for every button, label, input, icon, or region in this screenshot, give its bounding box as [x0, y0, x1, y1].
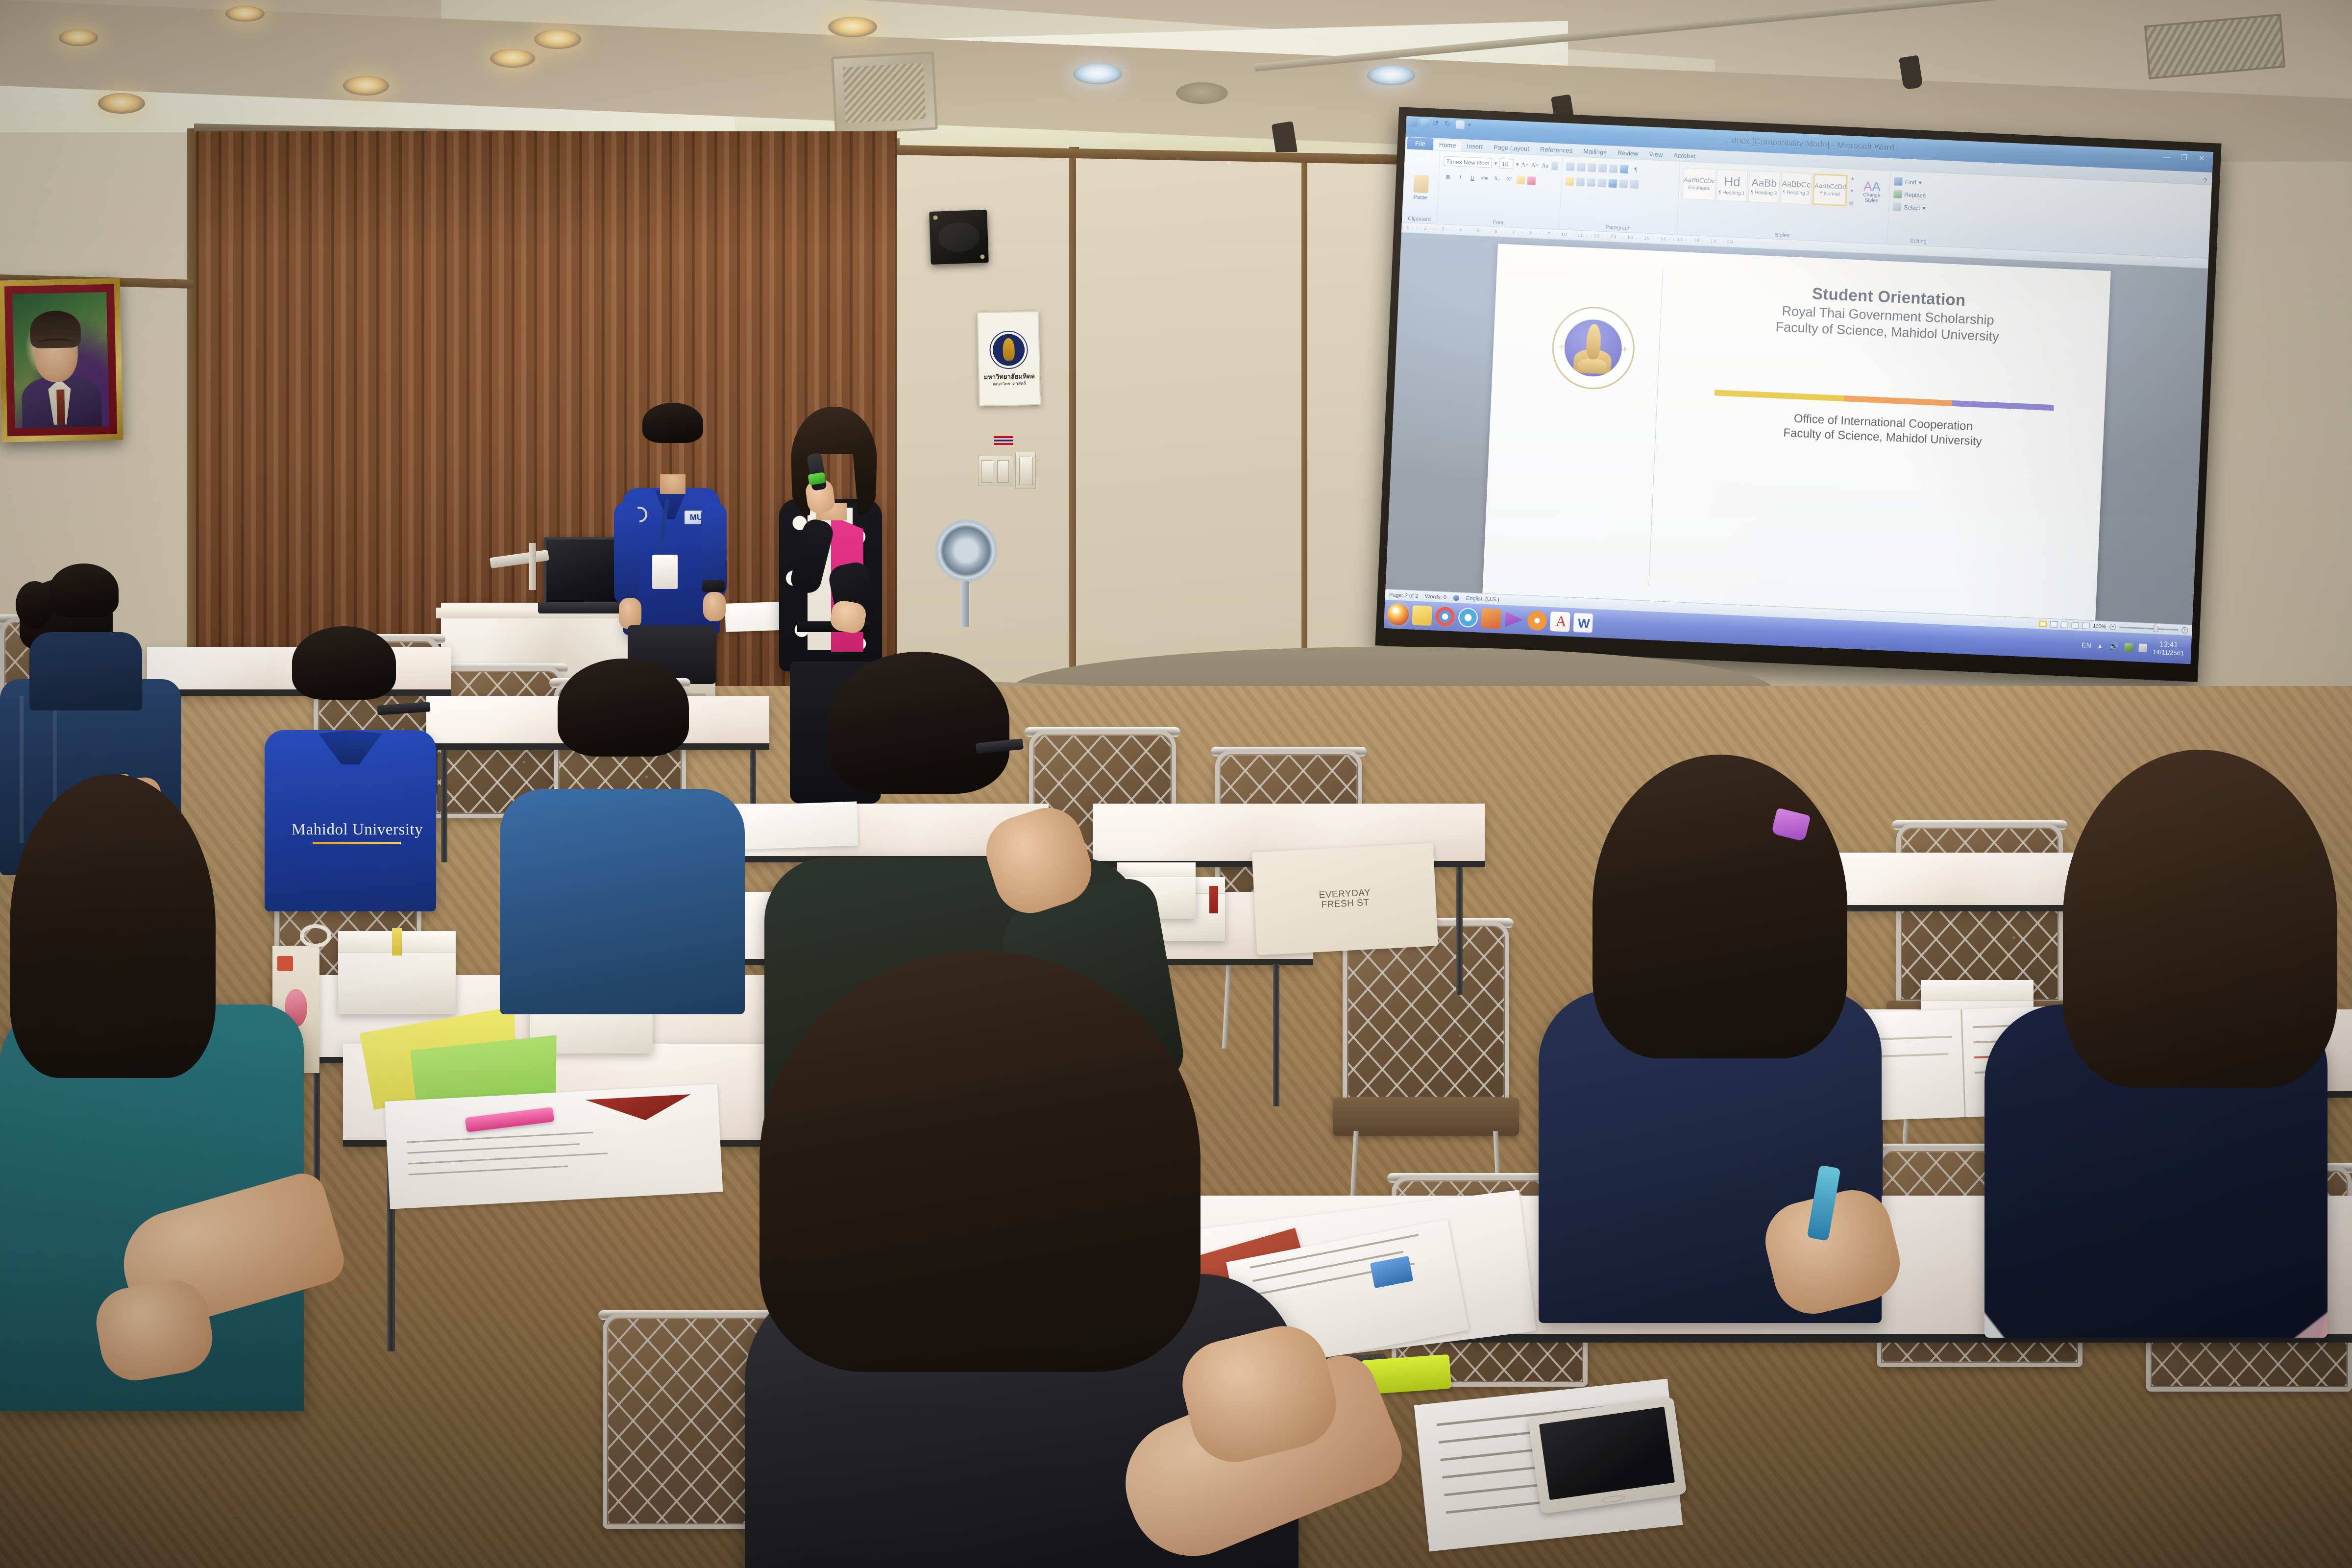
zoom-level[interactable]: 110% — [2093, 623, 2107, 630]
seminar-room-photo: มหาวิทยาลัยมหิดล คณะวิทยาศาสตร์ ↺ ↻ — [0, 0, 2352, 1568]
font-size-combo[interactable]: 10 — [1499, 158, 1514, 169]
proofing-icon[interactable] — [1453, 595, 1460, 601]
screen-surface: ↺ ↻ ▾ ...docx [Compatibility Mode] - Mic… — [1384, 116, 2213, 664]
screen-frame: ↺ ↻ ▾ ...docx [Compatibility Mode] - Mic… — [1375, 107, 2221, 682]
google-chrome-icon[interactable] — [1435, 607, 1455, 627]
attendee-hair — [1592, 755, 1847, 1058]
draft-view-icon[interactable] — [2082, 622, 2090, 629]
attendee-teal — [0, 774, 353, 1411]
document-text-column: Student Orientation Royal Thai Governmen… — [1660, 278, 2091, 605]
eyeglasses-icon — [377, 702, 430, 715]
change-case-icon[interactable]: Aa — [1541, 160, 1549, 171]
color-bar-segment-yellow — [1715, 390, 1844, 401]
tab-file[interactable]: File — [1407, 137, 1434, 150]
find-button[interactable]: Find▾ — [1894, 177, 1948, 188]
assistant-arm-left — [614, 502, 639, 606]
snack-box[interactable] — [338, 931, 456, 1014]
bullets-icon[interactable] — [1566, 162, 1575, 171]
royal-portrait-frame — [0, 278, 123, 442]
attendee-patterned-blouse — [1984, 750, 2352, 1338]
restore-icon[interactable]: ❐ — [2178, 153, 2191, 163]
strikethrough-icon[interactable]: abc — [1480, 173, 1490, 184]
start-orb-icon[interactable] — [1387, 603, 1409, 626]
mahidol-university-seal-icon — [1550, 305, 1636, 391]
document-canvas[interactable]: Student Orientation Royal Thai Governmen… — [1386, 233, 2208, 625]
thai-flag-sticker-icon — [994, 436, 1013, 445]
clear-formatting-icon[interactable] — [1551, 162, 1558, 171]
attendee-foreground — [730, 951, 1372, 1568]
zoom-slider[interactable] — [2119, 627, 2178, 631]
royal-portrait-image — [12, 292, 109, 428]
tab-mailings[interactable]: Mailings — [1578, 146, 1612, 158]
tab-references[interactable]: References — [1535, 144, 1577, 157]
mahidol-wall-placard: มหาวิทยาลัยมหิดล คณะวิทยาศาสตร์ — [977, 311, 1041, 407]
clock-date: 14/11/2561 — [2153, 649, 2184, 657]
font-name-combo[interactable]: Times New Rom — [1444, 156, 1492, 168]
style-emphasis[interactable]: AaBbCcDc Emphasis — [1683, 168, 1716, 200]
page-indicator[interactable]: Page: 2 of 2 — [1389, 592, 1419, 599]
document-page[interactable]: Student Orientation Royal Thai Governmen… — [1482, 244, 2111, 620]
attendee-hair — [49, 563, 119, 617]
dimmer-switch-plate[interactable] — [1015, 452, 1036, 489]
grow-font-icon[interactable]: A˄ — [1521, 159, 1529, 170]
internet-explorer-icon[interactable] — [1458, 608, 1478, 628]
ribbon-group-styles[interactable]: AaBbCcDc Emphasis Hd ¶ Heading 1 AaBb ¶ … — [1677, 162, 1890, 244]
zoom-in-button[interactable]: + — [2181, 627, 2188, 634]
numbering-icon[interactable] — [1577, 163, 1586, 171]
ribbon-group-clipboard[interactable]: Paste Clipboard — [1402, 149, 1441, 224]
window-controls[interactable]: — ❐ ✕ — [2160, 152, 2208, 164]
replace-button[interactable]: Replace — [1893, 190, 1948, 200]
attendee-center-left — [500, 642, 755, 1014]
attendee-hair — [2063, 750, 2337, 1088]
document-color-bar — [1715, 390, 2054, 411]
tab-page-layout[interactable]: Page Layout — [1488, 142, 1534, 154]
select-button[interactable]: Select▾ — [1893, 202, 1947, 213]
attendee-back-left — [29, 559, 147, 706]
decrease-indent-icon[interactable] — [1598, 164, 1607, 172]
font-color-icon[interactable] — [1527, 176, 1536, 185]
attendee-long-hair — [10, 774, 216, 1078]
align-left-icon[interactable] — [1566, 177, 1574, 186]
pencil-pouch[interactable]: EVERYDAYFRESH ST — [1252, 843, 1438, 955]
network-icon[interactable] — [2124, 643, 2133, 652]
tab-view[interactable]: View — [1644, 149, 1668, 161]
tab-review[interactable]: Review — [1612, 147, 1643, 160]
style-heading-3[interactable]: AaBbCc ¶ Heading 3 — [1780, 172, 1812, 205]
align-center-icon[interactable] — [1576, 177, 1585, 186]
attendee-torso — [29, 632, 142, 710]
ribbon-group-editing[interactable]: Find▾ Replace Select▾ Editing — [1887, 171, 1953, 246]
shrink-font-icon[interactable]: A˅ — [1531, 160, 1539, 170]
tab-home[interactable]: Home — [1434, 139, 1461, 151]
downlight-icon — [225, 6, 265, 22]
attendee-hair — [828, 652, 1009, 794]
quick-access-toolbar[interactable]: ↺ ↻ ▾ — [1409, 118, 1477, 129]
adobe-reader-icon[interactable]: A — [1550, 612, 1570, 632]
language-indicator[interactable]: English (U.S.) — [1466, 595, 1499, 603]
color-bar-segment-purple — [1952, 400, 2054, 411]
line-spacing-icon[interactable] — [1608, 179, 1617, 188]
paste-label[interactable]: Paste — [1413, 194, 1427, 200]
styles-gallery-scroll[interactable]: ▲▼▤ — [1848, 175, 1856, 206]
help-icon[interactable]: ? — [2203, 176, 2212, 185]
binoculars-icon — [1894, 177, 1903, 186]
file-explorer-icon[interactable] — [1412, 605, 1432, 626]
assistant-neck — [660, 474, 686, 494]
font-size-dropdown-icon[interactable]: ▾ — [1516, 161, 1519, 167]
word-document-title: ...docx [Compatibility Mode] - Microsoft… — [1724, 136, 1894, 153]
justify-icon[interactable] — [1597, 178, 1606, 187]
podium-post — [529, 543, 536, 590]
show-hidden-icons-icon[interactable]: ▲ — [2097, 642, 2104, 650]
customize-qat-icon[interactable]: ▾ — [1468, 121, 1476, 129]
zoom-out-button[interactable]: − — [2109, 624, 2116, 631]
attendee-hair — [558, 659, 689, 757]
media-player-icon[interactable] — [1504, 610, 1524, 630]
attendee-shirt-blue — [500, 789, 745, 1014]
full-screen-reading-icon[interactable] — [2050, 621, 2058, 628]
placard-line-1: มหาวิทยาลัยมหิดล — [983, 373, 1035, 381]
italic-icon[interactable]: I — [1455, 172, 1466, 182]
multilevel-list-icon[interactable] — [1588, 163, 1596, 172]
word-count[interactable]: Words: 0 — [1425, 593, 1446, 600]
powerpoint-icon[interactable] — [1481, 609, 1501, 629]
ac-diffuser-icon — [831, 51, 938, 135]
undo-icon[interactable]: ↺ — [1432, 119, 1441, 128]
ribbon-group-paragraph[interactable]: ¶ Paragraph — [1560, 156, 1680, 235]
select-icon — [1893, 202, 1902, 211]
change-styles-button[interactable]: AA Change Styles — [1858, 179, 1886, 204]
show-formatting-marks-icon[interactable]: ¶ — [1631, 164, 1641, 174]
attendee-hair — [292, 626, 396, 700]
align-right-icon[interactable] — [1587, 178, 1595, 187]
clipboard-group-label: Clipboard — [1402, 216, 1437, 223]
table-leg — [441, 750, 447, 862]
portrait-mat — [4, 284, 117, 437]
style-heading-1[interactable]: Hd ¶ Heading 1 — [1716, 169, 1748, 202]
staff-id-card — [652, 555, 678, 589]
color-bar-segment-orange — [1843, 395, 1952, 406]
downlight-icon — [490, 49, 535, 68]
language-bar[interactable]: EN — [2082, 641, 2091, 649]
microsoft-word-icon[interactable]: W — [1573, 612, 1593, 633]
print-layout-view-icon[interactable] — [2039, 620, 2047, 627]
pouch-text: EVERYDAYFRESH ST — [1319, 888, 1372, 910]
downlight-icon — [534, 29, 581, 49]
placard-line-2: คณะวิทยาศาสตร์ — [993, 381, 1026, 387]
downlight-icon — [343, 76, 389, 96]
web-layout-view-icon[interactable] — [2060, 621, 2068, 628]
system-tray[interactable]: EN ▲ 🔊 13:41 14/11/2561 — [2082, 637, 2189, 658]
assistant-hand-right — [703, 592, 726, 621]
handout-paper[interactable] — [385, 1084, 723, 1209]
shading-icon[interactable] — [1619, 179, 1628, 188]
save-icon[interactable] — [1421, 119, 1430, 127]
projection-screen: ↺ ↻ ▾ ...docx [Compatibility Mode] - Mic… — [1375, 107, 2221, 682]
downlight-icon — [828, 17, 877, 37]
mahidol-university-seal-icon — [989, 330, 1029, 369]
superscript-icon[interactable]: X² — [1504, 174, 1514, 185]
close-icon[interactable]: ✕ — [2195, 154, 2208, 164]
volume-icon[interactable]: 🔊 — [2108, 641, 2119, 652]
downlight-off-icon — [1176, 82, 1228, 104]
underline-icon[interactable]: U — [1468, 173, 1478, 183]
style-normal[interactable]: AaBbCcDd ¶ Normal — [1812, 173, 1848, 206]
foreground-attendee-hair — [759, 951, 1200, 1372]
vlc-icon[interactable] — [1527, 611, 1547, 631]
sort-icon[interactable] — [1620, 165, 1629, 173]
subscript-icon[interactable]: X₂ — [1492, 174, 1502, 184]
tab-insert[interactable]: Insert — [1462, 141, 1488, 152]
wristwatch-icon — [702, 580, 725, 592]
replace-icon — [1893, 190, 1902, 198]
change-styles-icon: AA — [1863, 180, 1881, 194]
downlight-icon — [1367, 66, 1415, 85]
electric-fan-icon — [935, 519, 998, 582]
font-name-dropdown-icon[interactable]: ▾ — [1494, 160, 1497, 166]
light-switch-plate[interactable] — [978, 456, 1013, 486]
action-center-icon[interactable] — [2138, 643, 2147, 652]
downlight-icon — [59, 29, 98, 46]
text-highlight-color-icon[interactable] — [1517, 175, 1525, 184]
assistant-hand-left — [619, 598, 641, 629]
increase-indent-icon[interactable] — [1609, 164, 1618, 173]
minimize-icon[interactable]: — — [2160, 152, 2173, 162]
ribbon-group-font[interactable]: Times New Rom ▾ 10 ▾ A˄ A˅ Aa B — [1437, 151, 1563, 229]
assistant-hair — [642, 403, 703, 443]
redo-icon[interactable]: ↻ — [1444, 120, 1453, 128]
borders-icon[interactable] — [1630, 180, 1639, 189]
word-app-icon[interactable] — [1409, 118, 1418, 127]
bold-icon[interactable]: B — [1443, 171, 1453, 182]
taskbar-clock[interactable]: 13:41 14/11/2561 — [2153, 640, 2184, 657]
paste-icon[interactable] — [1413, 174, 1429, 193]
outline-view-icon[interactable] — [2071, 622, 2079, 629]
style-heading-2[interactable]: AaBb ¶ Heading 2 — [1748, 171, 1780, 203]
document-seal-column — [1505, 271, 1673, 586]
downlight-icon — [1073, 64, 1122, 84]
downlight-icon — [98, 93, 145, 114]
attendee-navy-sweater — [1539, 755, 1921, 1323]
tab-acrobat[interactable]: Acrobat — [1668, 150, 1701, 162]
smartphone[interactable] — [1528, 1396, 1687, 1514]
wall-speaker-icon — [929, 210, 989, 265]
fan-stand — [960, 581, 969, 627]
table-leg — [1456, 867, 1463, 995]
print-preview-icon[interactable] — [1456, 120, 1465, 129]
